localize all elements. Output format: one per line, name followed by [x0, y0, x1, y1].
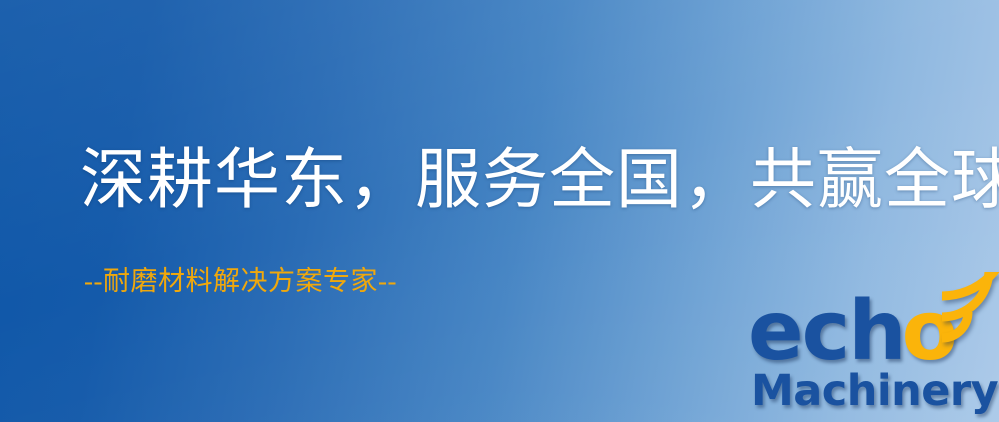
logo-brand-prefix: ech: [748, 292, 905, 372]
hero-banner: 深耕华东，服务全国，共赢全球 --耐磨材料解决方案专家-- ech o Mach…: [0, 0, 999, 422]
logo-o-with-signal: o: [902, 292, 956, 372]
logo-brand-line2: Machinery®: [751, 370, 999, 413]
banner-subtitle: --耐磨材料解决方案专家--: [84, 265, 397, 297]
banner-headline: 深耕华东，服务全国，共赢全球: [80, 146, 999, 216]
logo-wordmark: ech o: [748, 292, 956, 372]
echo-machinery-logo[interactable]: ech o Machinery®: [748, 292, 999, 422]
signal-waves-icon: [936, 272, 999, 346]
logo-machinery-text: Machinery: [751, 366, 998, 416]
